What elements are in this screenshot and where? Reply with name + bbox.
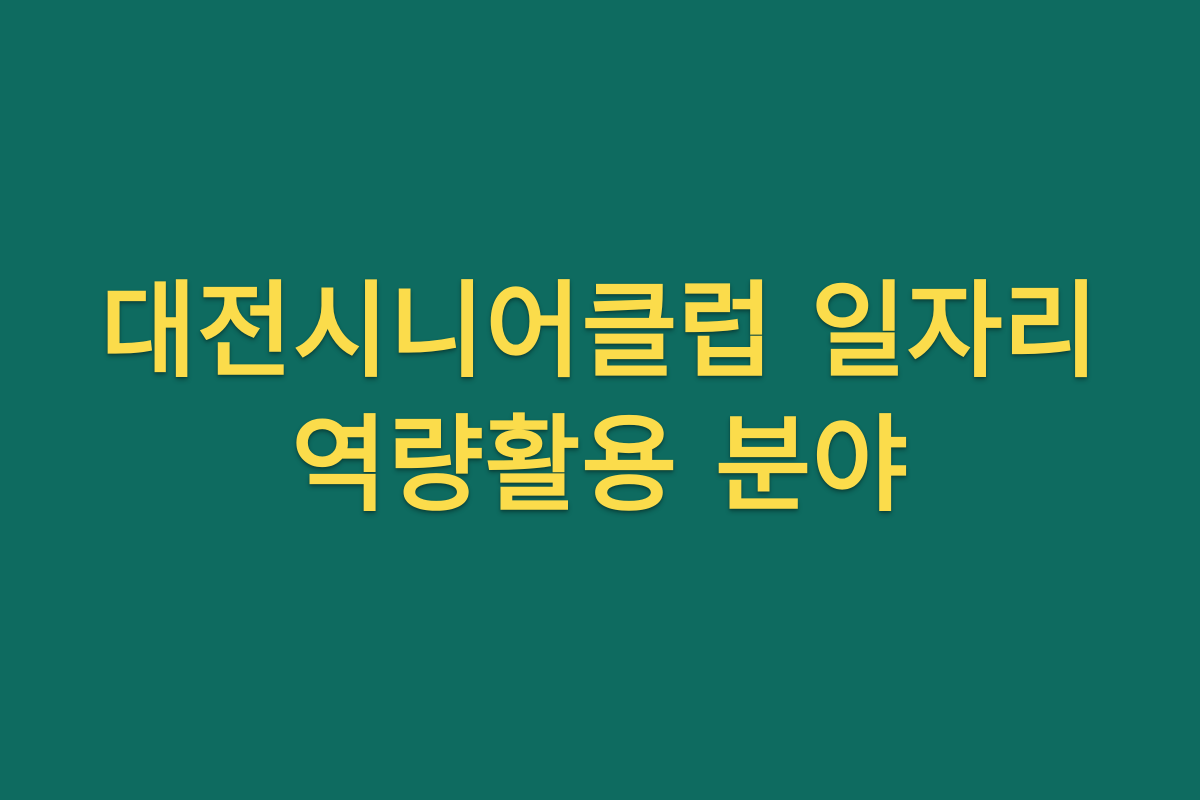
headline-block: 대전시니어클럽 일자리 역량활용 분야 xyxy=(0,264,1200,532)
headline-line-1: 대전시니어클럽 일자리 xyxy=(40,264,1160,398)
title-banner: 대전시니어클럽 일자리 역량활용 분야 xyxy=(0,0,1200,800)
headline-line-2: 역량활용 분야 xyxy=(40,398,1160,532)
